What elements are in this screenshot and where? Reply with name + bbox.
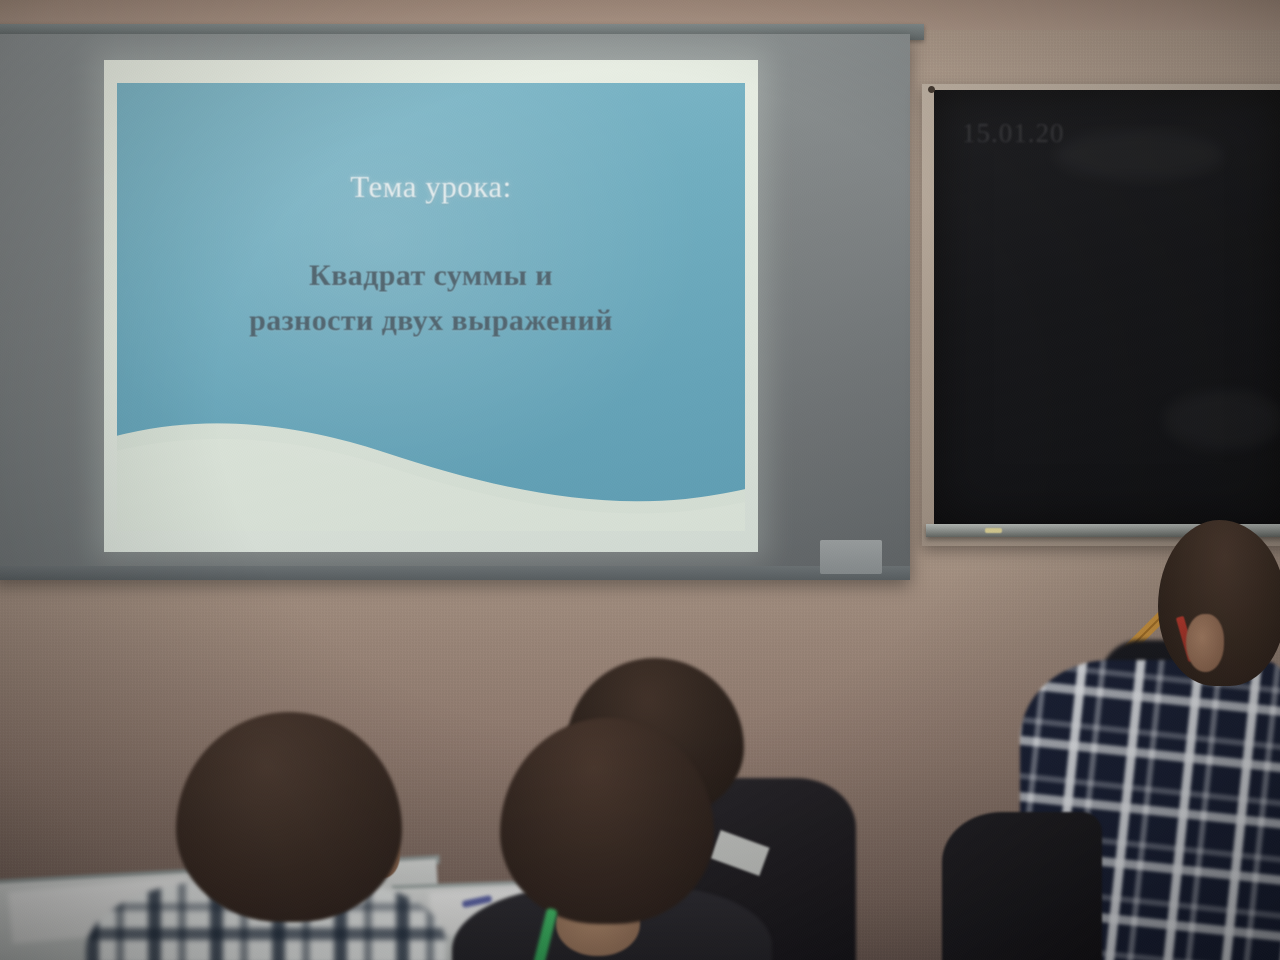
slide-subtitle-line-2: разности двух выражений [117, 298, 745, 343]
projected-slide-area: Тема урока: Квадрат суммы и разности дву… [104, 60, 758, 552]
slide-subtitle: Квадрат суммы и разности двух выражений [117, 253, 745, 343]
presentation-slide: Тема урока: Квадрат суммы и разности дву… [117, 83, 745, 531]
blackboard-chalk-note: 15.01.20 [962, 118, 1065, 149]
blackboard-corner-clip [928, 86, 935, 93]
slide-text-block: Тема урока: Квадрат суммы и разности дву… [117, 169, 745, 343]
slide-subtitle-line-1: Квадрат суммы и [117, 253, 745, 298]
projector-screen-bottom-bar [0, 566, 910, 580]
chalk-smudge [1164, 390, 1280, 450]
student-right-ear [1186, 614, 1224, 672]
projector-screen-weight-tab [820, 540, 882, 574]
slide-wave-decoration [117, 387, 745, 531]
slide-title: Тема урока: [117, 169, 745, 205]
blackboard: 15.01.20 [934, 90, 1280, 524]
chalk-smudge [1054, 130, 1224, 180]
chalk-piece [985, 528, 1002, 533]
classroom-scene: Тема урока: Квадрат суммы и разности дву… [0, 0, 1280, 960]
student-right-dark-shoulder [942, 812, 1102, 960]
